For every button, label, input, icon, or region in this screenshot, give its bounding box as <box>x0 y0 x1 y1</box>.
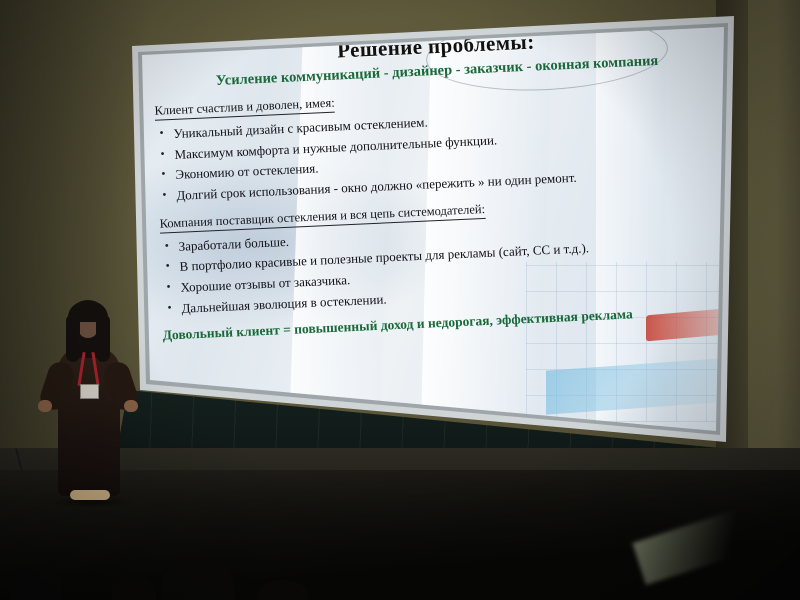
screen-surface: Решение проблемы: Усиление коммуникаций … <box>126 12 742 452</box>
slide-content: Решение проблемы: Усиление коммуникаций … <box>126 12 742 452</box>
presenter-hair-side-left <box>66 314 80 362</box>
presenter-hand-right <box>124 400 138 412</box>
presenter-hair-side-right <box>96 314 110 362</box>
presenter-hand-left <box>38 400 52 412</box>
slide-section-client: Клиент счастлив и доволен, имея: Уникаль… <box>152 76 728 206</box>
presenter-badge <box>80 384 99 399</box>
presentation-photo: Решение проблемы: Усиление коммуникаций … <box>0 0 800 600</box>
presenter-shoes <box>70 490 110 500</box>
section-heading-client: Клиент счастлив и доволен, имея: <box>154 96 335 121</box>
presenter <box>36 300 146 500</box>
slide-section-company: Компания поставщик остекления и вся цепь… <box>157 189 733 319</box>
